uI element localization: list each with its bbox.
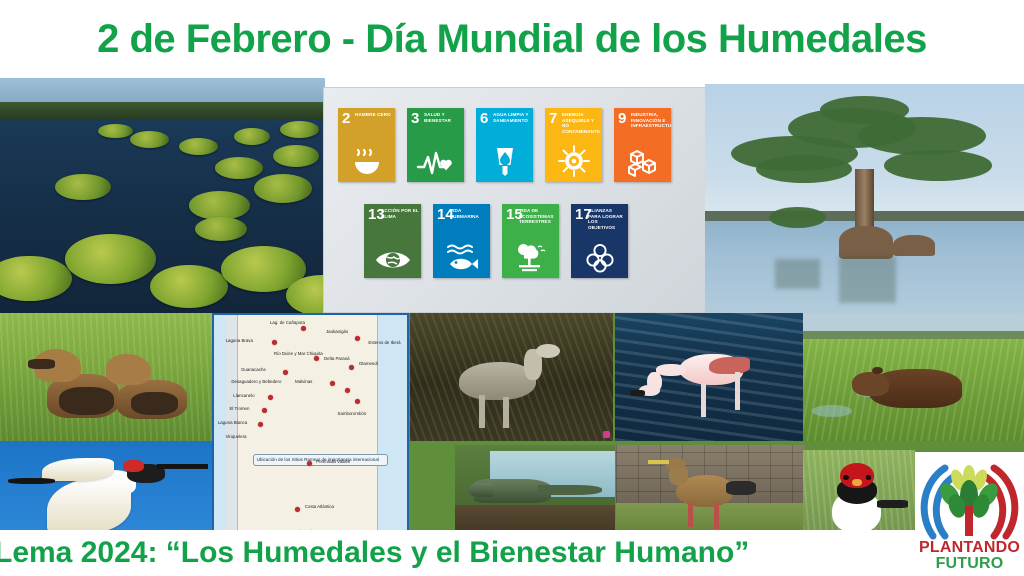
sdg-label: HAMBRE CERO xyxy=(355,112,393,118)
logo-line-2: FUTURO xyxy=(915,556,1024,572)
map-site-label: Laguna Brava xyxy=(226,338,253,343)
waterlilies-photo xyxy=(0,78,325,318)
sdg-label: VIDA DE ECOSISTEMAS TERRESTRES xyxy=(519,208,557,225)
fish-waves-icon xyxy=(433,243,490,273)
sun-icon xyxy=(545,145,602,177)
tree-birds-icon xyxy=(502,241,559,273)
water-glass-icon xyxy=(476,145,533,177)
sdg-goal-13: 13 ACCIÓN POR EL CLIMA xyxy=(364,204,421,278)
capybara-photo xyxy=(803,313,1024,441)
rhea-photo xyxy=(410,313,613,441)
map-site-label: Malvinas xyxy=(295,379,312,384)
sdg-row-top: 2 HAMBRE CERO 3 SALUD Y BIENESTAR xyxy=(338,108,671,182)
bowl-steam-icon xyxy=(338,149,395,177)
map-site-dot xyxy=(295,507,300,512)
heartbeat-icon xyxy=(407,149,464,177)
sdg-goal-17: 17 ALIANZAS PARA LOGRAR LOS OBJETIVOS xyxy=(571,204,628,278)
sdg-label: AGUA LIMPIA Y SANEAMIENTO xyxy=(493,112,531,123)
slide-root: 2 de Febrero - Día Mundial de los Humeda… xyxy=(0,0,1024,576)
sdg-goal-9: 9 INDUSTRIA, INNOVACIÓN E INFRAESTRUCTUR… xyxy=(614,108,671,182)
page-title: 2 de Febrero - Día Mundial de los Humeda… xyxy=(97,17,927,62)
sdg-goals-panel: 2 HAMBRE CERO 3 SALUD Y BIENESTAR xyxy=(323,87,706,313)
far-bank xyxy=(803,331,1024,339)
map-site-label: El Tromen xyxy=(229,406,249,411)
map-site-label: Costa Atlántica xyxy=(305,504,334,509)
map-site-dot xyxy=(330,381,335,386)
map-site-label: Península Valdés xyxy=(316,459,350,464)
sdg-label: SALUD Y BIENESTAR xyxy=(424,112,462,123)
bottom-banner: Lema 2024: “Los Humedales y el Bienestar… xyxy=(0,530,1024,576)
ramsar-sites-map: Lag. de Cañapota Jaukanigás Esteros de I… xyxy=(212,313,409,545)
sdg-label: VIDA SUBMARINA xyxy=(450,208,488,219)
map-site-label: Delta Paraná xyxy=(324,356,350,361)
sdg-label: INDUSTRIA, INNOVACIÓN E INFRAESTRUCTURA xyxy=(631,112,669,129)
sdg-number: 6 xyxy=(480,111,488,126)
plantando-futuro-logo: PLANTANDO FUTURO xyxy=(915,452,1024,576)
sdg-label: ACCIÓN POR EL CLIMA xyxy=(381,208,419,219)
map-site-label: Lag. de Cañapota xyxy=(270,320,305,325)
map-site-label: Jaukanigás xyxy=(326,329,348,334)
sdg-label: ENERGÍA ASEQUIBLE Y NO CONTAMINANTE xyxy=(562,112,600,134)
sdg-goal-14: 14 VIDA SUBMARINA xyxy=(433,204,490,278)
watermark-chip xyxy=(603,431,610,438)
flamingo-photo xyxy=(615,313,803,441)
map-site-label: Samborombón xyxy=(338,411,367,416)
cubes-icon xyxy=(614,149,671,177)
sdg-label: ALIANZAS PARA LOGRAR LOS OBJETIVOS xyxy=(588,208,626,230)
slogan-text: Lema 2024: “Los Humedales y el Bienestar… xyxy=(0,536,749,570)
photo-watermark xyxy=(603,431,610,438)
map-site-label: Vinquelera xyxy=(226,434,247,439)
map-site-dot xyxy=(268,395,273,400)
sdg-row-bottom: 13 ACCIÓN POR EL CLIMA 14 VIDA SUBMARINA xyxy=(364,204,628,278)
map-site-label: Guanacache xyxy=(241,367,266,372)
map-site-label: Laguna Blanca xyxy=(218,420,247,425)
sdg-number: 3 xyxy=(411,111,419,126)
map-site-dot xyxy=(272,340,277,345)
map-site-dot xyxy=(355,336,360,341)
sdg-goal-15: 15 VIDA DE ECOSISTEMAS TERRESTRES xyxy=(502,204,559,278)
logo-wordmark: PLANTANDO FUTURO xyxy=(915,540,1024,572)
map-site-label: Llancanelo xyxy=(233,393,254,398)
map-site-dot xyxy=(307,461,312,466)
tree-arcs-mark xyxy=(915,454,1024,540)
rings-icon xyxy=(571,243,628,273)
sdg-goal-6: 6 AGUA LIMPIA Y SANEAMIENTO xyxy=(476,108,533,182)
sdg-number: 2 xyxy=(342,111,350,126)
logo-line-1: PLANTANDO xyxy=(915,540,1024,556)
map-site-label: Otamendi xyxy=(359,361,378,366)
eye-globe-icon xyxy=(364,247,421,273)
sdg-number: 7 xyxy=(549,111,557,126)
cypress-tree-photo xyxy=(705,84,1024,320)
sdg-number: 9 xyxy=(618,111,626,126)
maned-wolves-photo xyxy=(0,313,212,441)
title-bar: 2 de Febrero - Día Mundial de los Humeda… xyxy=(0,0,1024,78)
map-site-label: Esteros de Iberá xyxy=(368,340,400,345)
map-site-label: Desaguadero y Bebedero xyxy=(231,379,281,384)
sdg-goal-3: 3 SALUD Y BIENESTAR xyxy=(407,108,464,182)
sdg-goal-2: 2 HAMBRE CERO xyxy=(338,108,395,182)
sdg-goal-7: 7 ENERGÍA ASEQUIBLE Y NO CONTAMINANTE xyxy=(545,108,602,182)
